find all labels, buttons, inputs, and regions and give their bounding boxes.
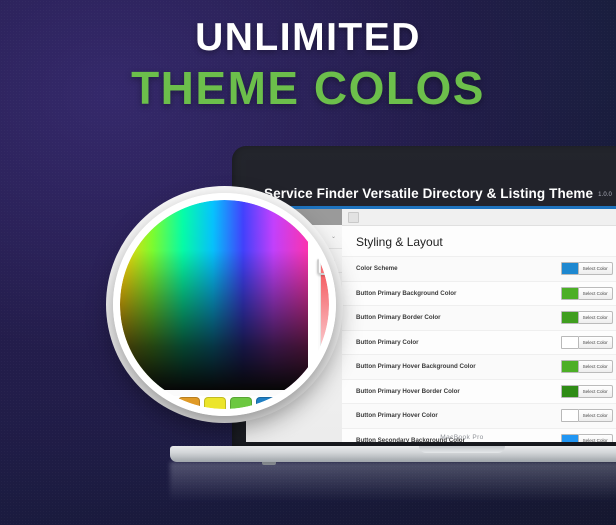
color-swatch[interactable]	[561, 409, 579, 422]
magnifier-content: Logo	[120, 200, 329, 409]
headline-line-1: UNLIMITED	[0, 18, 616, 58]
laptop-reflection	[170, 462, 616, 502]
select-color-button[interactable]: Select Color	[579, 336, 613, 349]
color-swatch[interactable]	[561, 311, 579, 324]
palette-swatch-4[interactable]	[230, 397, 252, 409]
palette-swatch-2[interactable]	[178, 397, 200, 409]
menu-toggle-icon[interactable]	[348, 212, 359, 223]
select-color-button[interactable]: Select Color	[579, 311, 613, 324]
select-color-button[interactable]: Select Color	[579, 409, 613, 422]
palette-swatch-5[interactable]	[256, 397, 278, 409]
palette-swatch-0[interactable]	[126, 397, 148, 409]
hue-slider[interactable]	[320, 233, 329, 390]
app-content: Save Ch Styling & Layout Color SchemeSel…	[342, 209, 616, 442]
setting-row: Button Primary Hover ColorSelect ColorTr…	[342, 403, 616, 428]
color-swatch[interactable]	[561, 385, 579, 398]
macbook-label: MacBook Pro	[232, 434, 616, 441]
setting-row: Button Primary Hover Background ColorSel…	[342, 354, 616, 379]
color-swatch[interactable]	[561, 287, 579, 300]
setting-row: Button Primary Border ColorSelect ColorT…	[342, 305, 616, 330]
settings-rows: Color SchemeSelect ColorTransparentButto…	[342, 256, 616, 442]
saturation-field-edge	[308, 200, 318, 390]
select-color-button[interactable]: Select Color	[579, 287, 613, 300]
setting-row: Button Primary Background ColorSelect Co…	[342, 281, 616, 306]
laptop-notch	[419, 446, 505, 453]
color-swatch-palette	[120, 396, 320, 409]
select-color-button[interactable]: Select Color	[579, 385, 613, 398]
app-version: 1.0.0	[598, 192, 612, 198]
setting-label: Button Primary Background Color	[356, 290, 561, 297]
chevron-down-icon: ⌄	[331, 233, 336, 240]
promo-banner: UNLIMITED THEME COLOS Service Finder Ver…	[0, 0, 616, 525]
section-title: Styling & Layout	[342, 226, 616, 256]
palette-swatch-1[interactable]	[152, 397, 174, 409]
setting-label: Button Primary Hover Background Color	[356, 363, 561, 370]
color-swatch[interactable]	[561, 262, 579, 275]
saturation-value-field[interactable]	[120, 200, 308, 390]
setting-label: Button Primary Border Color	[356, 314, 561, 321]
select-color-button[interactable]: Select Color	[579, 360, 613, 373]
setting-row: Button Primary Hover Border ColorSelect …	[342, 379, 616, 404]
headline: UNLIMITED THEME COLOS	[0, 18, 616, 112]
color-swatch[interactable]	[561, 360, 579, 373]
setting-row: Button Primary ColorSelect ColorTranspar…	[342, 330, 616, 355]
setting-label: Button Primary Hover Color	[356, 412, 561, 419]
palette-swatch-6[interactable]	[282, 397, 304, 409]
content-toolbar: Save Ch	[342, 209, 616, 226]
setting-row: Color SchemeSelect ColorTransparent	[342, 256, 616, 281]
magnifier-lens: Logo	[113, 193, 336, 416]
setting-label: Button Primary Color	[356, 339, 561, 346]
hue-slider-handle[interactable]	[317, 258, 329, 275]
laptop-base	[170, 446, 616, 462]
app-title-text: Service Finder Versatile Directory & Lis…	[264, 186, 593, 201]
palette-swatch-3[interactable]	[204, 397, 226, 409]
color-swatch[interactable]	[561, 336, 579, 349]
setting-label: Color Scheme	[356, 265, 561, 272]
select-color-button[interactable]: Select Color	[579, 262, 613, 275]
app-title: Service Finder Versatile Directory & Lis…	[264, 186, 612, 201]
headline-line-2: THEME COLOS	[0, 64, 616, 112]
chevron-down-icon: ⌄	[331, 257, 336, 264]
setting-label: Button Primary Hover Border Color	[356, 388, 561, 395]
